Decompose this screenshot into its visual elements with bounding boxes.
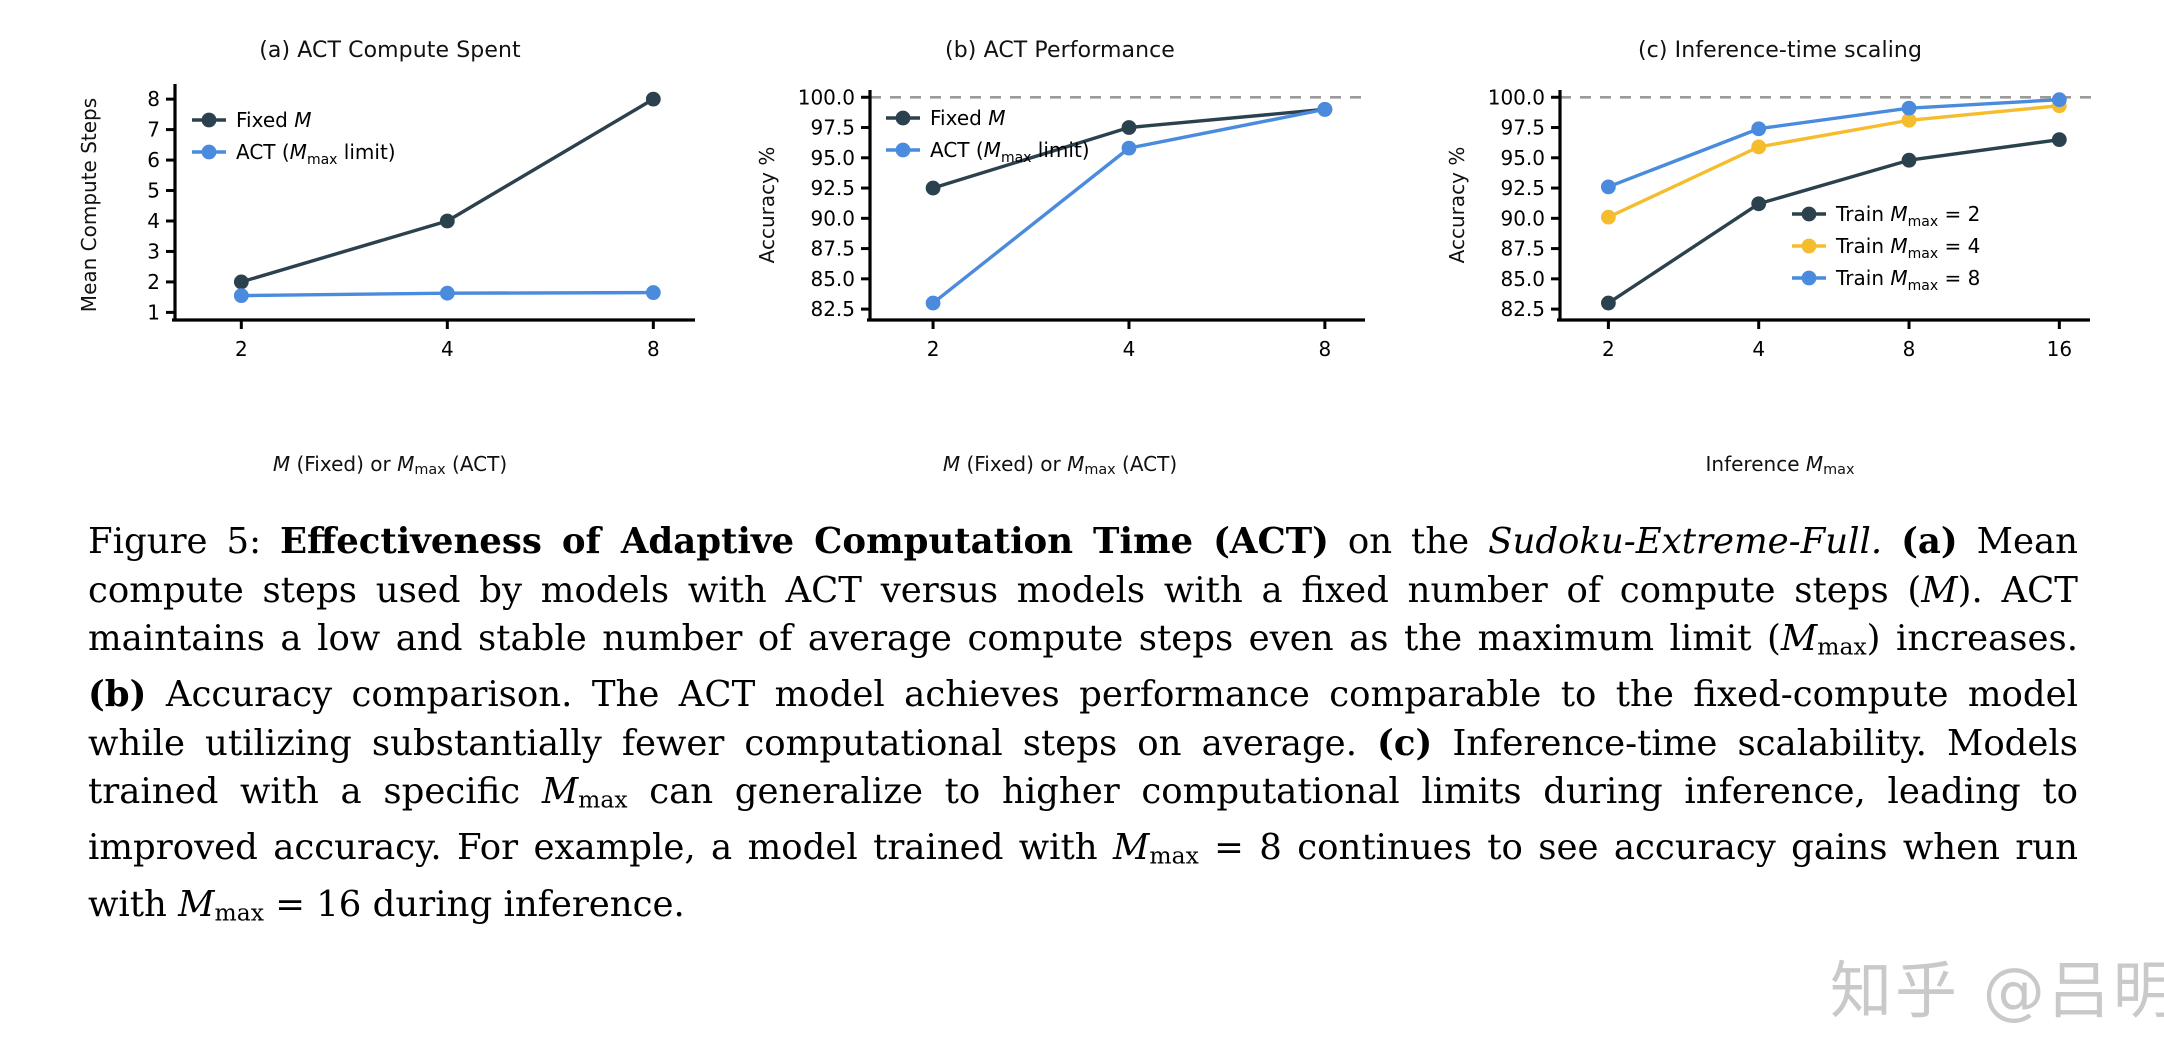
y-tick-label: 97.5 [810,116,855,140]
y-tick-label: 6 [147,148,160,172]
xaxis-label-m: M [943,452,960,476]
caption-math-mmax-3: M [1113,827,1149,868]
caption-math-mmax-2: M [542,771,578,812]
data-point [1751,196,1766,211]
xaxis-label-m: M [273,452,290,476]
legend-marker-0 [896,111,911,126]
chart-c-xaxis-label: Inference Mmax [1420,452,2140,478]
x-tick-label: 2 [927,337,940,361]
x-tick-label: 16 [2047,337,2072,361]
data-point [2052,92,2067,107]
chart-panel-b: (b) ACT Performance 82.585.087.590.092.5… [730,0,1390,500]
data-point [1751,121,1766,136]
xaxis-label-mmax-sub: max [414,462,445,478]
y-tick-label: 3 [147,239,160,263]
y-tick-label: 90.0 [810,206,855,230]
data-point [1122,120,1137,135]
x-tick-label: 4 [1123,337,1136,361]
y-tick-label: 7 [147,118,160,142]
x-tick-label: 4 [1752,337,1765,361]
y-tick-label: 95.0 [810,146,855,170]
series-line-0 [1608,140,2059,303]
data-point [1902,101,1917,116]
y-axis-label: Accuracy % [1445,147,1469,264]
y-tick-label: 8 [147,87,160,111]
xaxis-label-mmax: M [1806,452,1823,476]
chart-panel-a: (a) ACT Compute Spent 12345678248Mean Co… [60,0,720,500]
legend-label-0: Fixed M [236,108,311,132]
legend-label-2: Train Mmax = 8 [1835,266,1980,294]
xaxis-label-tail: (ACT) [446,452,507,476]
chart-panel-c: (c) Inference-time scaling 82.585.087.59… [1420,0,2140,500]
figure-panels: (a) ACT Compute Spent 12345678248Mean Co… [0,0,2164,500]
y-tick-label: 92.5 [810,176,855,200]
x-tick-label: 4 [441,337,454,361]
xaxis-label-mmax-sub: max [1823,462,1854,478]
caption-math-mmax-sub-4: max [215,898,264,926]
data-point [926,296,941,311]
y-tick-label: 87.5 [810,237,855,261]
x-tick-label: 8 [1903,337,1916,361]
chart-a-xaxis-label: M (Fixed) or Mmax (ACT) [60,452,720,478]
y-tick-label: 82.5 [810,297,855,321]
x-tick-label: 8 [1319,337,1332,361]
xaxis-label-mmax: M [1067,452,1084,476]
data-point [646,285,661,300]
legend-label-1: ACT (Mmax limit) [930,138,1090,166]
legend-label-0: Fixed M [930,106,1005,130]
caption-dataset-name: Sudoku-Extreme-Full. [1488,521,1882,562]
y-tick-label: 85.0 [1500,267,1545,291]
caption-marker-a: (a) [1901,521,1958,562]
data-point [1601,210,1616,225]
chart-c-title: (c) Inference-time scaling [1420,38,2140,63]
legend-marker-0 [1802,207,1817,222]
caption-marker-b: (b) [88,674,146,715]
data-point [440,214,455,229]
y-tick-label: 4 [147,209,160,233]
y-tick-label: 5 [147,179,160,203]
data-point [234,288,249,303]
xaxis-label-tail: (ACT) [1116,452,1177,476]
caption-math-mmax-sub: max [1817,633,1866,661]
chart-b-title: (b) ACT Performance [730,38,1390,63]
xaxis-label-mmax: M [397,452,414,476]
legend-marker-1 [896,143,911,158]
data-point [1601,296,1616,311]
legend-label-1: Train Mmax = 4 [1835,234,1980,262]
data-point [1317,102,1332,117]
y-tick-label: 97.5 [1500,116,1545,140]
y-axis-label: Mean Compute Steps [77,98,101,312]
caption-text-a3: ) increases. [1867,618,2078,659]
legend-marker-1 [1802,239,1817,254]
caption-math-m: M [1921,570,1957,611]
xaxis-label-prefix: Inference [1706,452,1806,476]
caption-marker-c: (c) [1377,723,1432,764]
data-point [1751,139,1766,154]
caption-math-mmax-sub-3: max [1149,842,1198,870]
xaxis-label-mmax-sub: max [1084,462,1115,478]
chart-c-plot: 82.585.087.590.092.595.097.5100.024816Ac… [1420,68,2140,328]
x-tick-label: 2 [1602,337,1615,361]
x-tick-label: 2 [235,337,248,361]
y-tick-label: 82.5 [1500,297,1545,321]
data-point [2052,132,2067,147]
caption-math-mmax-4: M [178,884,214,925]
y-tick-label: 2 [147,270,160,294]
data-point [646,92,661,107]
xaxis-label-mid: (Fixed) or [290,452,397,476]
caption-math-mmax: M [1781,618,1817,659]
y-tick-label: 1 [147,300,160,324]
legend-label-0: Train Mmax = 2 [1835,202,1980,230]
y-tick-label: 90.0 [1500,206,1545,230]
y-tick-label: 95.0 [1500,146,1545,170]
chart-a-plot: 12345678248Mean Compute StepsFixed MACT … [60,68,720,328]
y-tick-label: 85.0 [810,267,855,291]
chart-b-plot: 82.585.087.590.092.595.097.5100.0248Accu… [730,68,1390,328]
caption-mid-1: on the [1329,521,1488,562]
legend-marker-1 [202,145,217,160]
legend-marker-0 [202,113,217,128]
chart-b-xaxis-label: M (Fixed) or Mmax (ACT) [730,452,1390,478]
x-tick-label: 8 [647,337,660,361]
y-tick-label: 92.5 [1500,176,1545,200]
legend-label-1: ACT (Mmax limit) [236,140,396,168]
y-axis-label: Accuracy % [755,147,779,264]
legend-marker-2 [1802,271,1817,286]
data-point [1122,141,1137,156]
caption-bold-title: Effectiveness of Adaptive Computation Ti… [280,521,1329,562]
y-tick-label: 100.0 [798,85,855,109]
data-point [1601,179,1616,194]
data-point [440,286,455,301]
data-point [1902,153,1917,168]
chart-a-title: (a) ACT Compute Spent [60,38,720,63]
watermark: 知乎 @吕明 [1830,940,2164,1030]
data-point [234,275,249,290]
caption-math-mmax-sub-2: max [578,786,627,814]
caption-text-c4: = 16 during inference. [264,884,685,925]
caption-label: Figure 5: [88,521,261,562]
y-tick-label: 87.5 [1500,237,1545,261]
y-tick-label: 100.0 [1488,85,1545,109]
data-point [926,181,941,196]
figure-caption: Figure 5: Effectiveness of Adaptive Comp… [88,518,2078,937]
xaxis-label-mid: (Fixed) or [960,452,1067,476]
